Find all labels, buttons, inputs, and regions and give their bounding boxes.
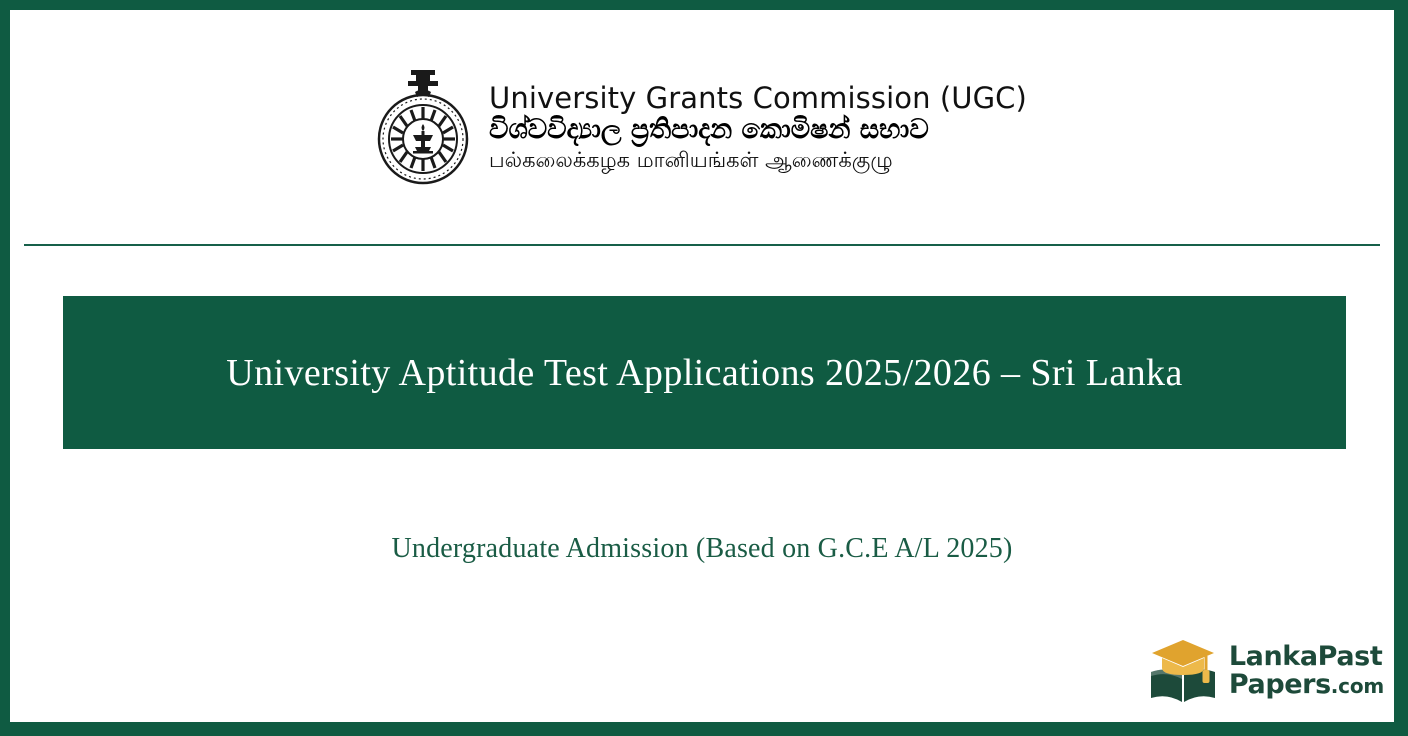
content-card: University Grants Commission (UGC) විශ්ව… <box>10 10 1394 722</box>
header-inner: University Grants Commission (UGC) විශ්ව… <box>10 10 1394 244</box>
brand-text: LankaPast Papers.com <box>1229 643 1384 698</box>
graduation-cap-book-icon <box>1146 634 1220 708</box>
title-banner: University Aptitude Test Applications 20… <box>63 296 1346 449</box>
ugc-emblem-oil-lamp-icon <box>377 66 469 188</box>
brand-watermark: LankaPast Papers.com <box>1146 634 1384 708</box>
brand-line-2: Papers <box>1229 669 1331 700</box>
ugc-name-sinhala: විශ්වවිද්‍යාල ප්‍රතිපාදන කොමිෂන් සභාව <box>489 115 1027 145</box>
page-root: University Grants Commission (UGC) විශ්ව… <box>0 0 1408 736</box>
page-subtitle: Undergraduate Admission (Based on G.C.E … <box>10 533 1394 565</box>
page-title: University Aptitude Test Applications 20… <box>226 351 1182 395</box>
ugc-name-tamil: பல்கலைக்கழக மானியங்கள் ஆணைக்குழு <box>489 149 1027 173</box>
brand-line-1: LankaPast <box>1229 643 1384 671</box>
page-header: University Grants Commission (UGC) විශ්ව… <box>10 10 1394 244</box>
brand-line-2-wrap: Papers.com <box>1229 671 1384 699</box>
ugc-name-english: University Grants Commission (UGC) <box>489 82 1027 114</box>
brand-dotcom: .com <box>1331 674 1384 698</box>
ugc-wordmark: University Grants Commission (UGC) විශ්ව… <box>489 82 1027 172</box>
page-body: University Aptitude Test Applications 20… <box>10 246 1394 722</box>
